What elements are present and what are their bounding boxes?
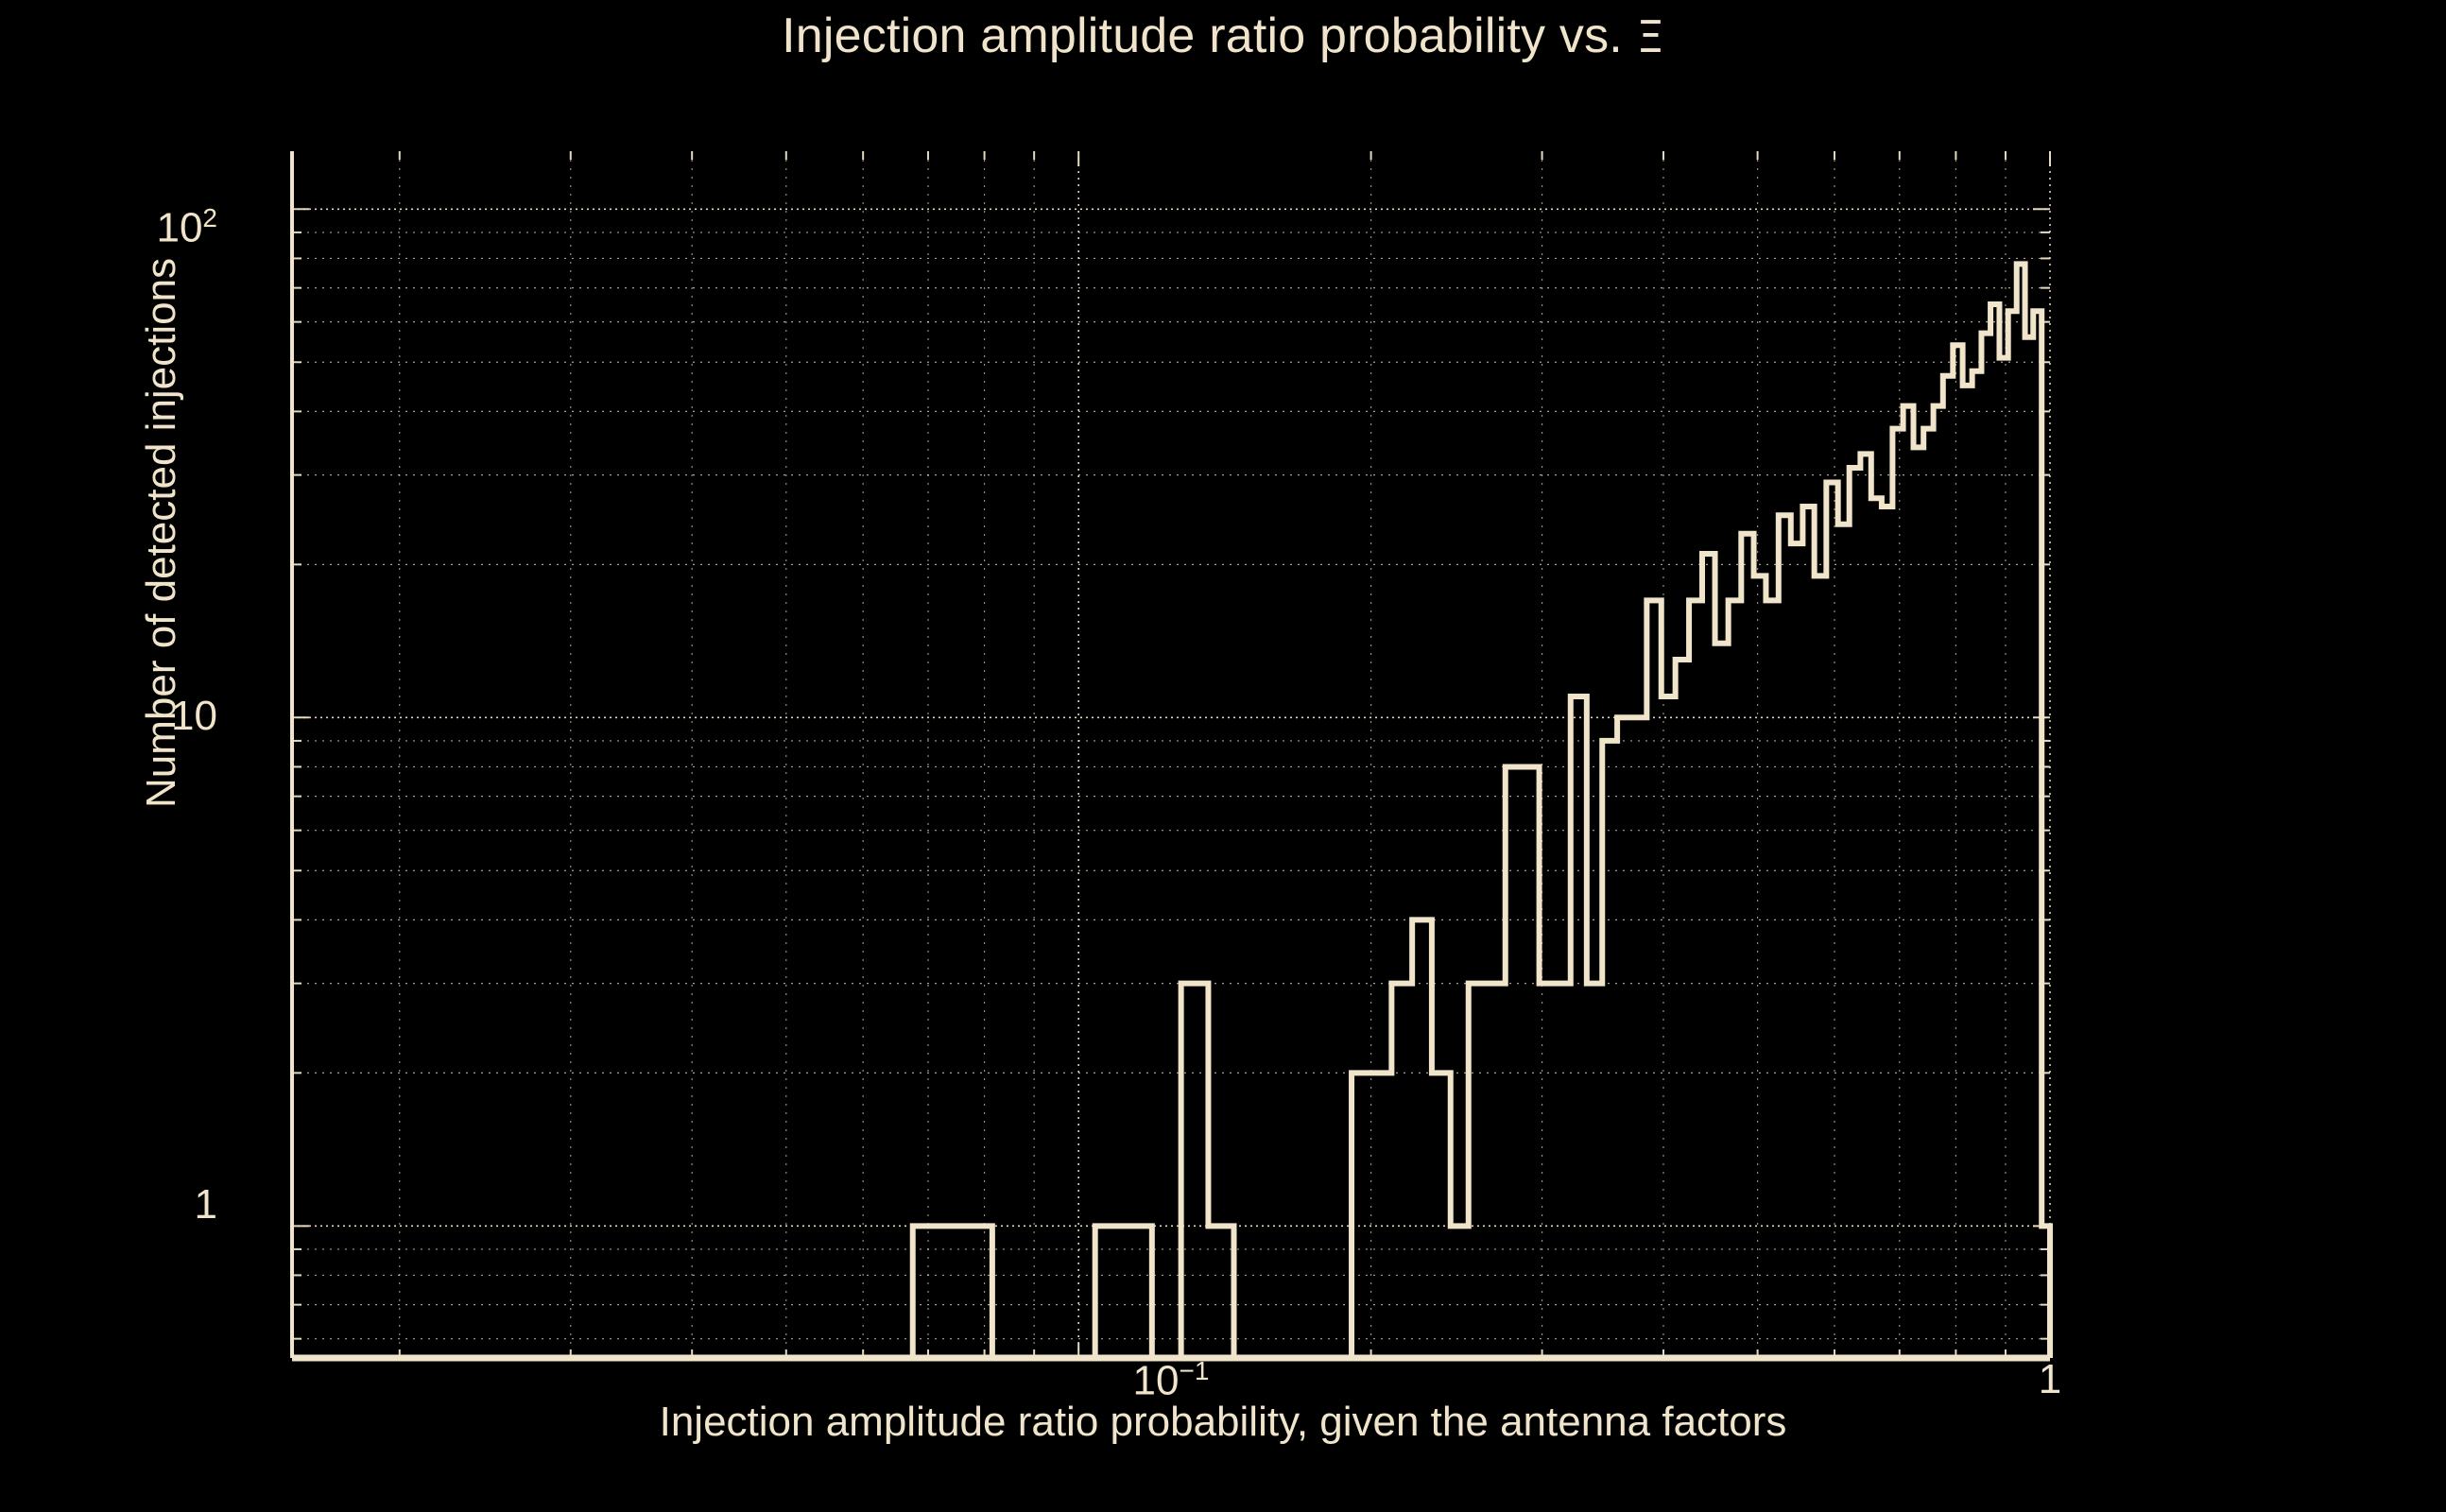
- tick-layer: [292, 151, 2050, 1358]
- plot-svg: [0, 0, 2446, 1512]
- grid-layer: [292, 151, 2050, 1358]
- axes-frame: [292, 151, 2050, 1358]
- histogram-step-line: [292, 264, 2050, 1358]
- figure-canvas: Injection amplitude ratio probability vs…: [0, 0, 2446, 1512]
